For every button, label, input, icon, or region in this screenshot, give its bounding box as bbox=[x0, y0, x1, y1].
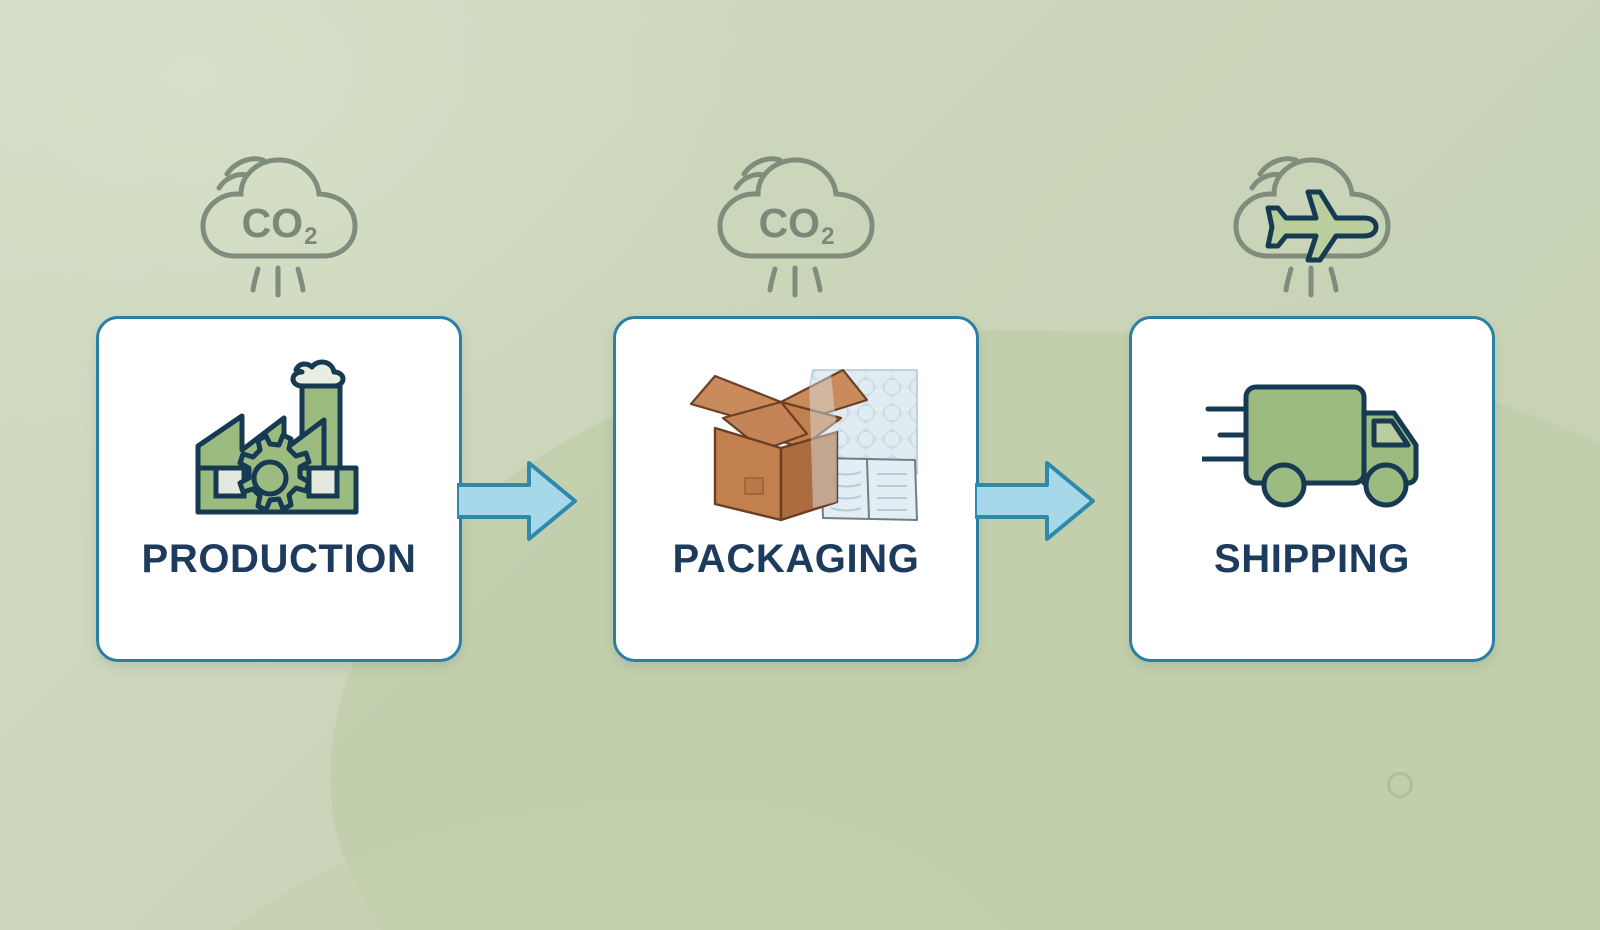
arrow-production-to-packaging bbox=[457, 455, 579, 547]
co2-label-production: CO2 bbox=[179, 200, 379, 247]
packaging-svg bbox=[671, 348, 921, 528]
co2-cloud-svg bbox=[179, 148, 379, 308]
infographic-canvas: CO2 bbox=[0, 0, 1600, 930]
card-label-production: PRODUCTION bbox=[99, 537, 459, 582]
flow-step-shipping[interactable]: SHIPPING bbox=[1129, 316, 1495, 662]
right-arrow-icon bbox=[457, 455, 579, 547]
cardboard-box-bubble-wrap-icon bbox=[671, 345, 921, 531]
card-shipping[interactable]: SHIPPING bbox=[1129, 316, 1495, 662]
flow-step-packaging[interactable]: CO2 bbox=[613, 316, 979, 662]
right-arrow-icon bbox=[975, 455, 1097, 547]
co2-cloud-icon-production: CO2 bbox=[179, 148, 379, 308]
airplane-glyph bbox=[1268, 192, 1376, 260]
delivery-truck-icon bbox=[1202, 345, 1422, 531]
card-label-packaging: PACKAGING bbox=[616, 537, 976, 582]
truck-svg bbox=[1202, 363, 1422, 513]
card-production[interactable]: PRODUCTION bbox=[96, 316, 462, 662]
factory-icon bbox=[184, 345, 374, 531]
card-label-shipping: SHIPPING bbox=[1132, 537, 1492, 582]
process-flow: CO2 bbox=[0, 0, 1600, 930]
card-packaging[interactable]: PACKAGING bbox=[613, 316, 979, 662]
co2-cloud-svg bbox=[696, 148, 896, 308]
airplane-cloud-svg bbox=[1212, 148, 1412, 308]
factory-svg bbox=[184, 350, 374, 526]
airplane-cloud-icon-shipping bbox=[1212, 148, 1412, 308]
flow-step-production[interactable]: CO2 bbox=[96, 316, 462, 662]
co2-cloud-icon-packaging: CO2 bbox=[696, 148, 896, 308]
co2-label-packaging: CO2 bbox=[696, 200, 896, 247]
arrow-packaging-to-shipping bbox=[975, 455, 1097, 547]
